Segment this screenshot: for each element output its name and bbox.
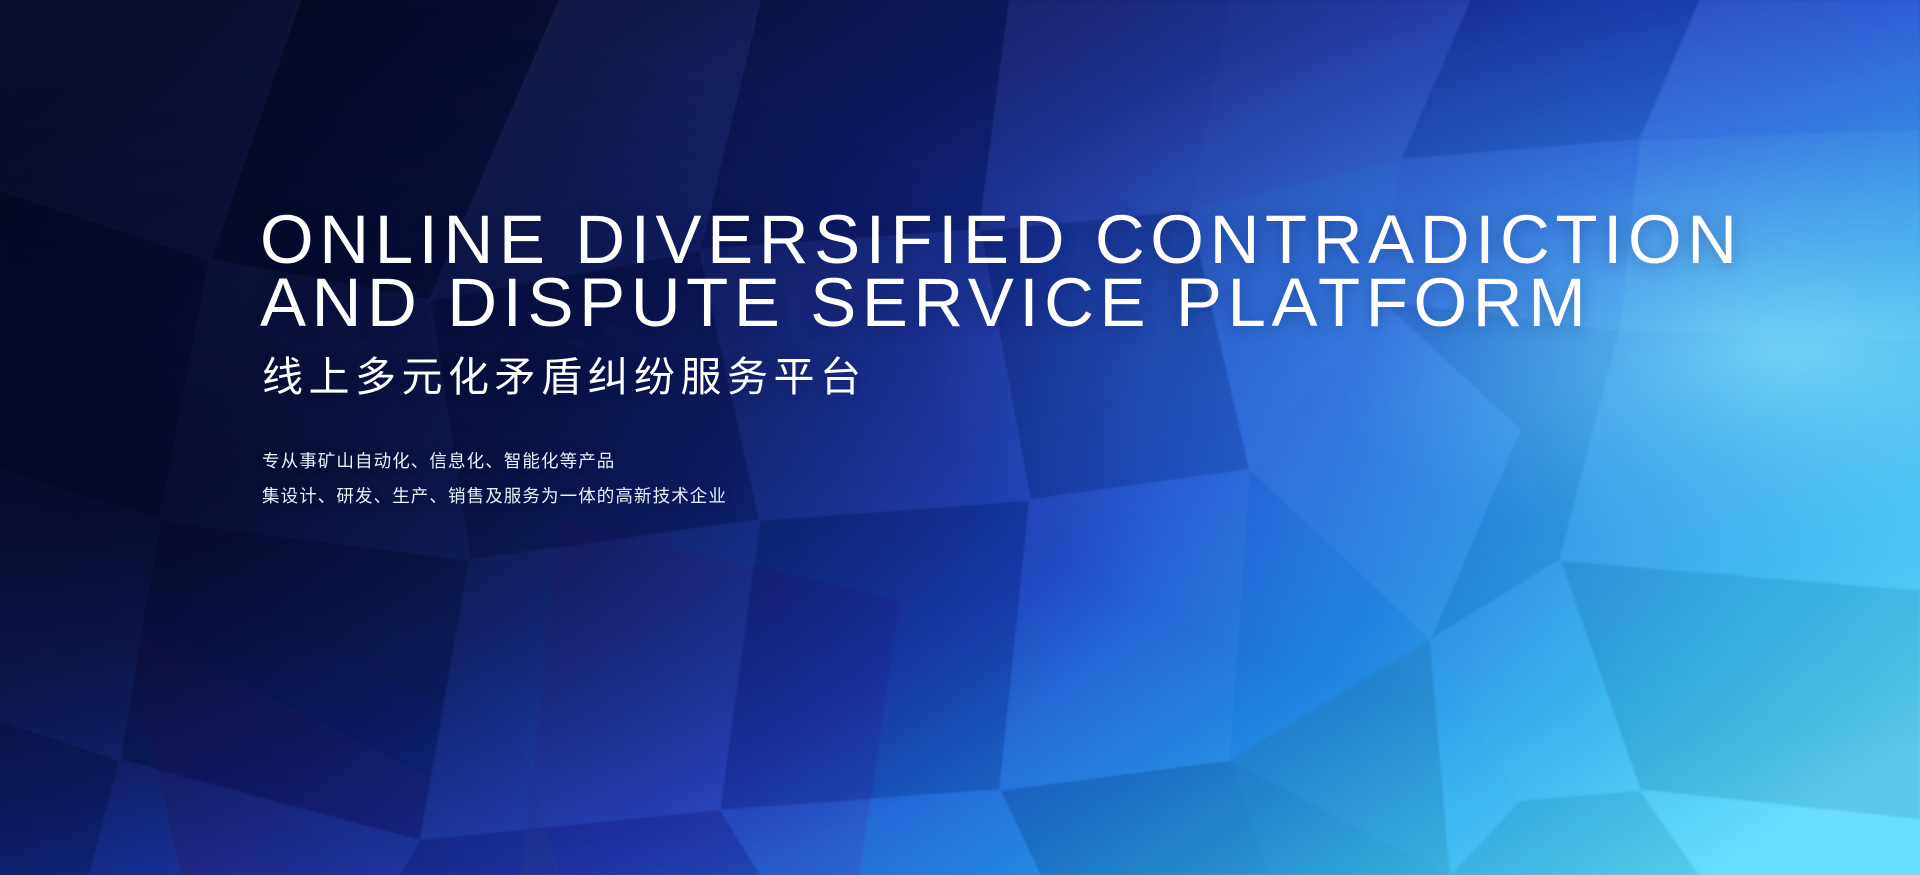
banner-content: ONLINE DIVERSIFIED CONTRADICTION AND DIS… [260,0,1760,875]
title-english-line-2: AND DISPUTE SERVICE PLATFORM [260,271,1743,334]
banner-subtext: 专从事矿山自动化、信息化、智能化等产品 集设计、研发、生产、销售及服务为一体的高… [262,444,727,514]
subtext-line-2: 集设计、研发、生产、销售及服务为一体的高新技术企业 [262,479,727,514]
banner-title-chinese: 线上多元化矛盾纠纷服务平台 [262,352,867,402]
title-english-line-1: ONLINE DIVERSIFIED CONTRADICTION [260,208,1743,271]
subtext-line-1: 专从事矿山自动化、信息化、智能化等产品 [262,444,727,479]
banner-title-english: ONLINE DIVERSIFIED CONTRADICTION AND DIS… [260,208,1743,334]
hero-banner: ONLINE DIVERSIFIED CONTRADICTION AND DIS… [0,0,1920,875]
